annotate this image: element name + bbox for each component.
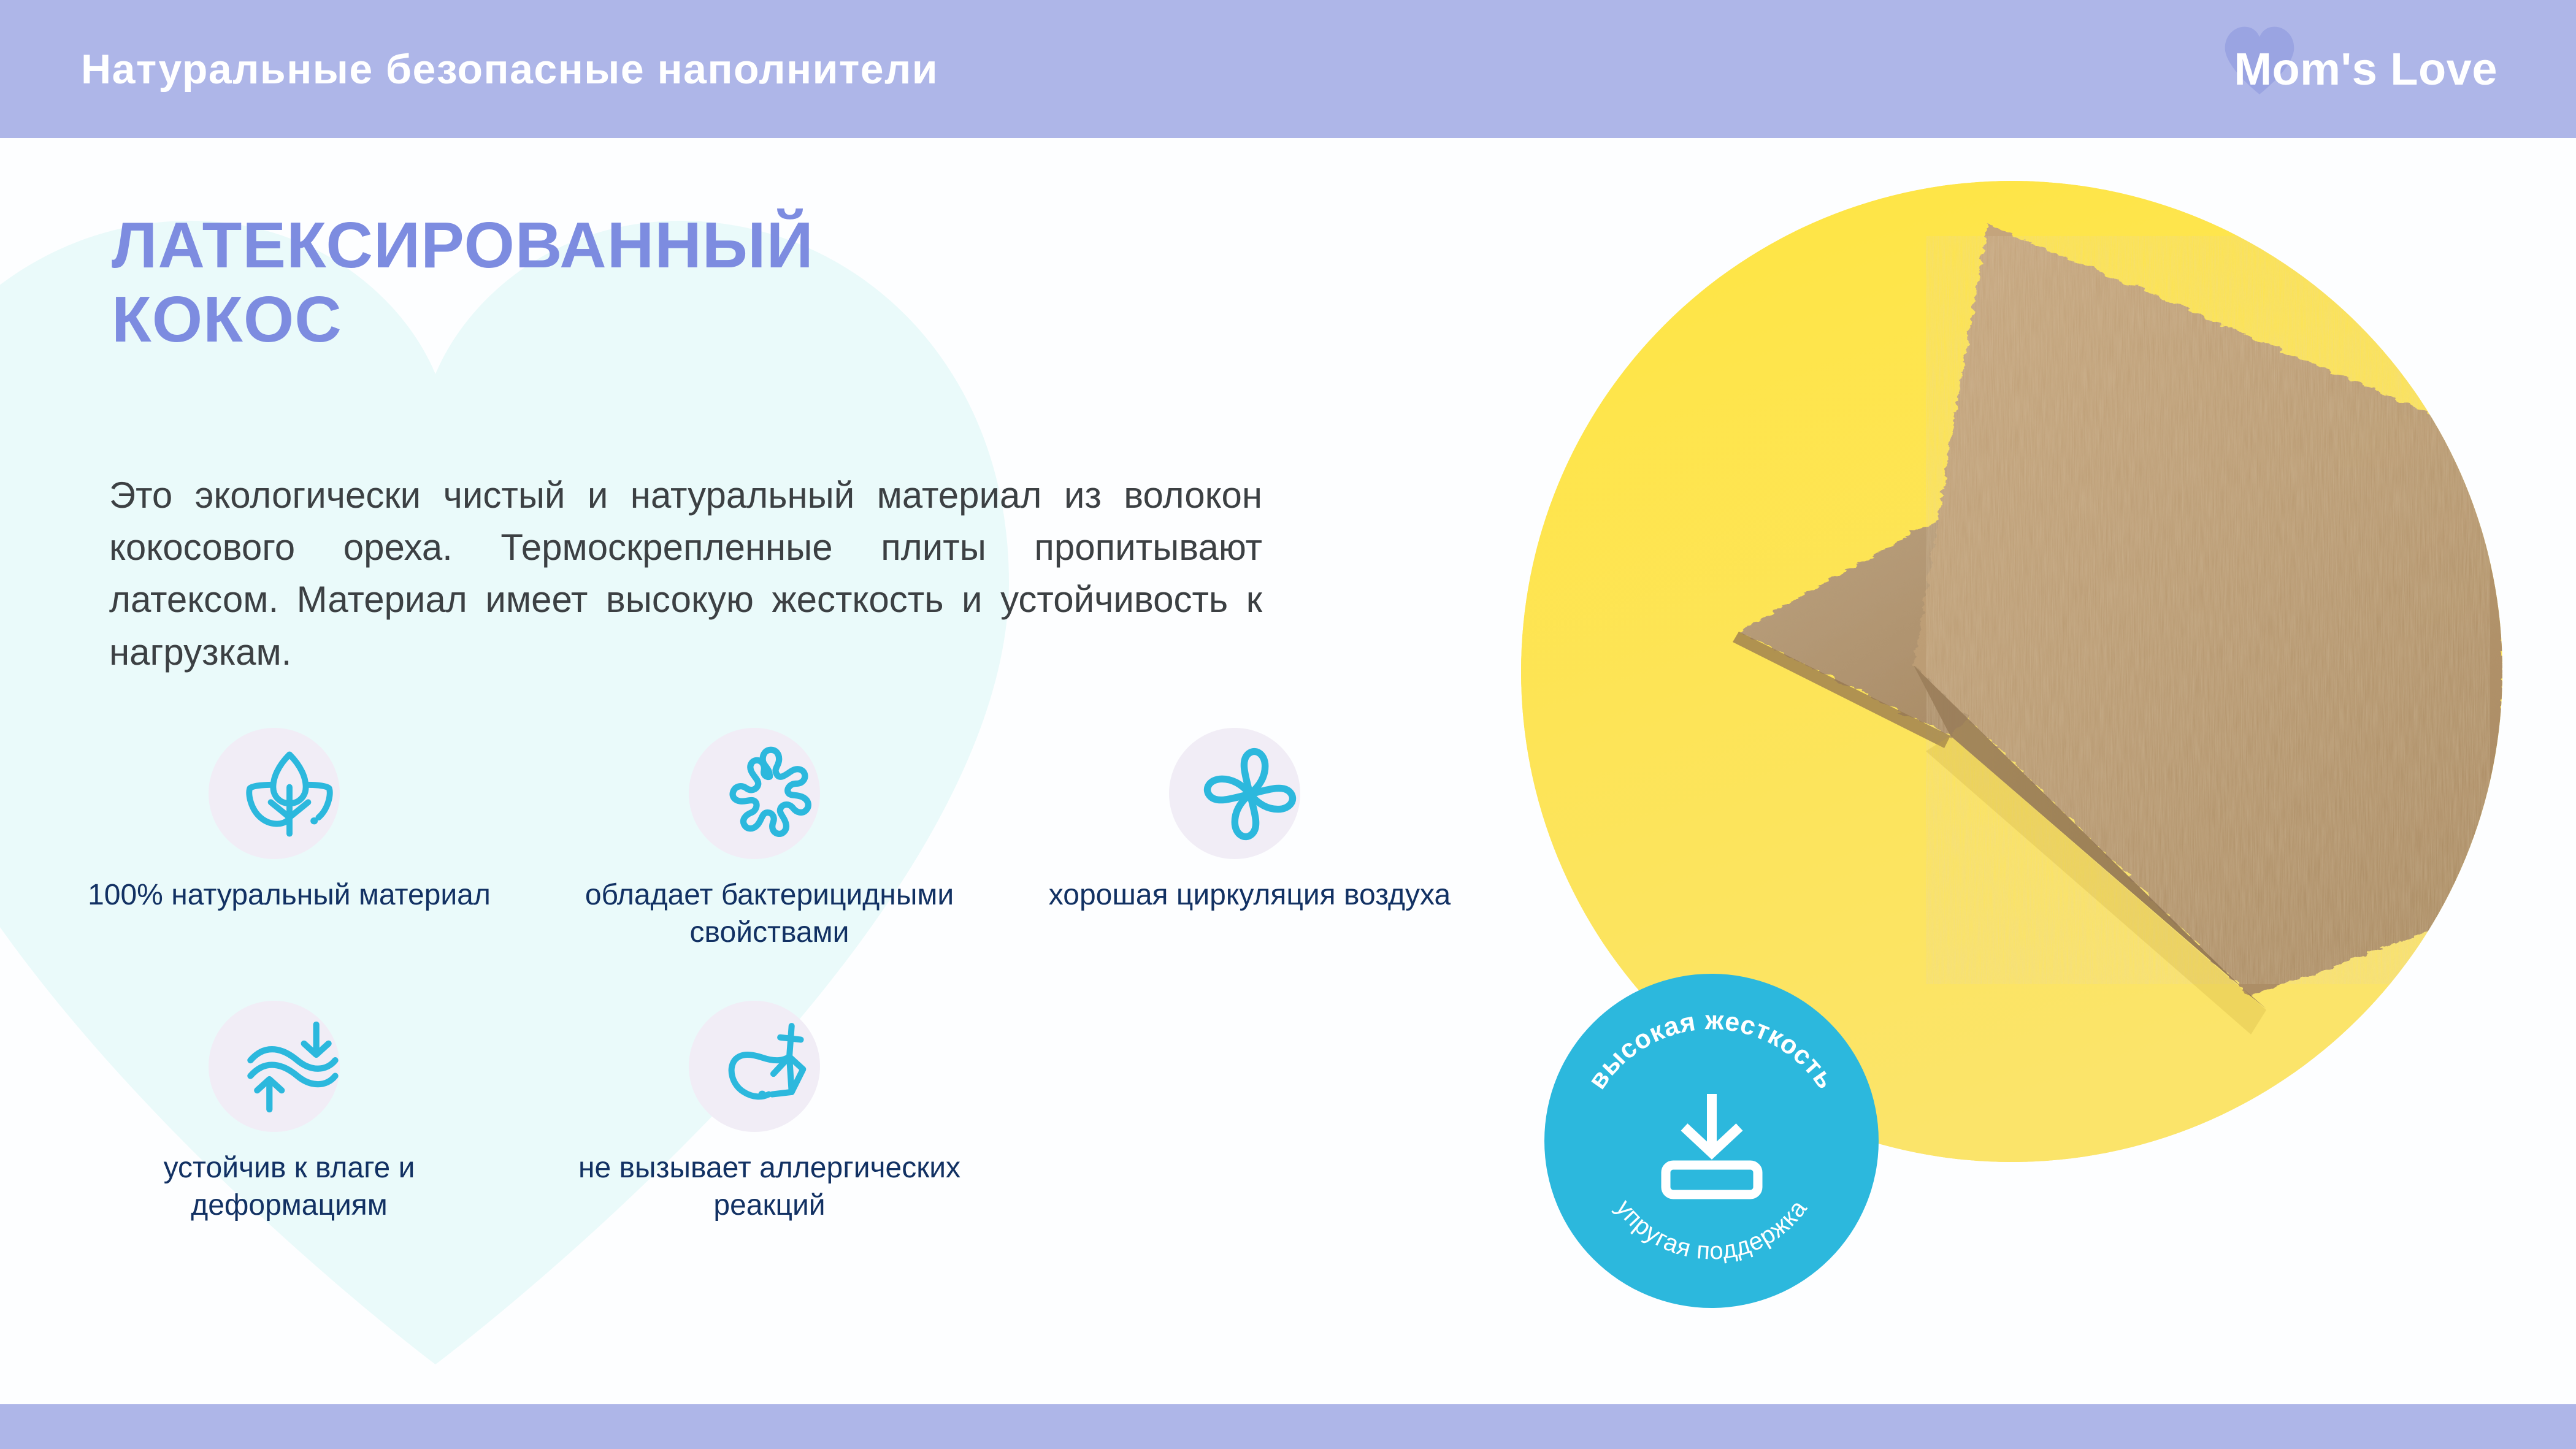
leaf-sprout-icon: [231, 736, 348, 852]
svg-text:высокая жесткость: высокая жесткость: [1582, 1006, 1841, 1095]
header-title: Натуральные безопасные наполнители: [81, 45, 938, 93]
feature-item-spacer: [1010, 1000, 1490, 1225]
page-title: ЛАТЕКСИРОВАННЫЙ КОКОС: [112, 208, 1154, 357]
feature-icon-wrap: [1158, 727, 1342, 862]
feature-item-air-circulation: хорошая циркуляция воздуха: [1010, 727, 1490, 952]
page-title-line-2: КОКОС: [112, 283, 1154, 357]
features-grid: 100% натуральный материал обладает бакте…: [49, 727, 1490, 1225]
feature-label: обладает бактерицидными свойствами: [555, 876, 984, 952]
page-footer: [0, 1404, 2576, 1449]
stiffness-badge: высокая жесткость упругая поддержка: [1544, 974, 1879, 1308]
brand-logo[interactable]: Mom's Love: [2234, 0, 2497, 138]
feature-label: устойчив к влаге и деформациям: [75, 1149, 504, 1225]
feature-item-bactericidal: обладает бактерицидными свойствами: [529, 727, 1010, 952]
badge-top-label: высокая жесткость: [1582, 1006, 1841, 1095]
moisture-deformation-icon: [228, 1009, 351, 1125]
slide-root: Натуральные безопасные наполнители Mom's…: [0, 0, 2576, 1449]
feature-item-natural: 100% натуральный материал: [49, 727, 529, 952]
feature-icon-wrap: [678, 727, 862, 862]
left-content-column: ЛАТЕКСИРОВАННЫЙ КОКОС Это экологически ч…: [0, 138, 1503, 1404]
feature-icon-wrap: [678, 1000, 862, 1134]
features-row-2: устойчив к влаге и деформациям: [49, 1000, 1490, 1225]
description-paragraph: Это экологически чистый и натуральный ма…: [109, 469, 1262, 678]
features-row-1: 100% натуральный материал обладает бакте…: [49, 727, 1490, 952]
feature-icon-wrap: [197, 727, 381, 862]
logo-text: Mom's Love: [2234, 43, 2497, 95]
hypoallergenic-icon: [710, 1009, 829, 1125]
pressure-arrow-icon: [1641, 1089, 1782, 1206]
page-title-line-1: ЛАТЕКСИРОВАННЫЙ: [112, 208, 1154, 283]
feature-label: не вызывает аллергических реакций: [555, 1149, 984, 1225]
feature-item-hypoallergenic: не вызывает аллергических реакций: [529, 1000, 1010, 1225]
feature-item-moisture: устойчив к влаге и деформациям: [49, 1000, 529, 1225]
air-circulation-icon: [1192, 736, 1308, 852]
feature-label: 100% натуральный материал: [88, 876, 491, 914]
feature-label: хорошая циркуляция воздуха: [1049, 876, 1451, 914]
feature-icon-wrap: [197, 1000, 381, 1134]
bacteria-icon: [711, 736, 828, 852]
page-header: Натуральные безопасные наполнители Mom's…: [0, 0, 2576, 138]
